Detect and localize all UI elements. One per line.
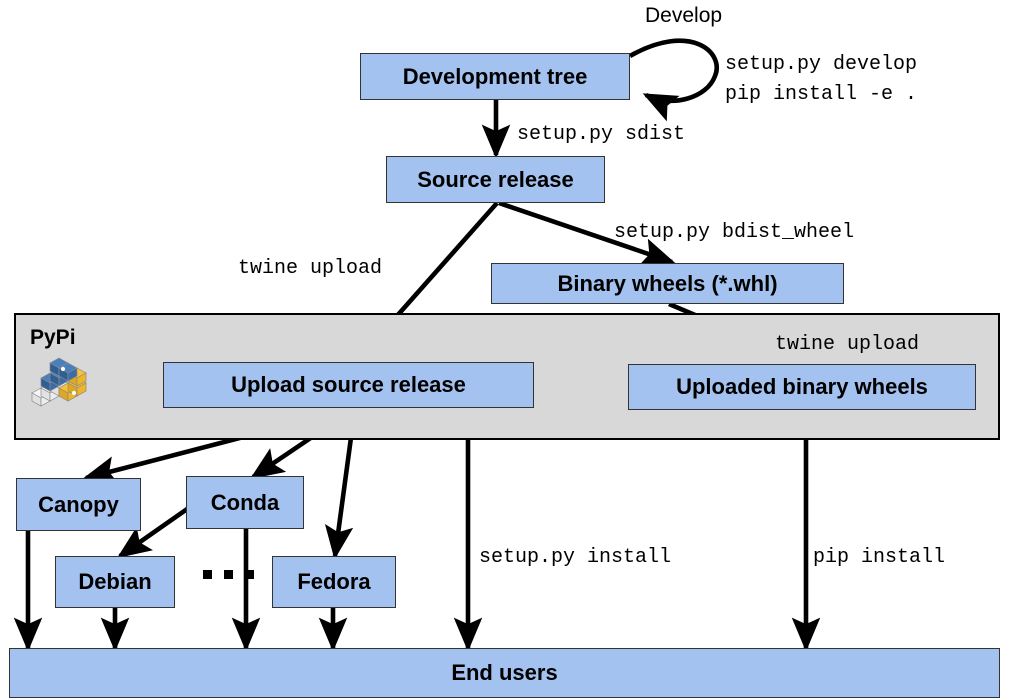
ellipsis-dot bbox=[245, 570, 254, 579]
node-source-release[interactable]: Source release bbox=[386, 156, 605, 203]
ellipsis-dot bbox=[203, 570, 212, 579]
node-development-tree[interactable]: Development tree bbox=[360, 53, 630, 100]
label-setup-py-install: setup.py install bbox=[479, 545, 671, 571]
ellipsis-more-distros bbox=[203, 570, 254, 579]
label-develop: Develop bbox=[645, 3, 722, 30]
label-twine-upload-binary: twine upload bbox=[775, 332, 919, 358]
label-twine-upload-source: twine upload bbox=[238, 256, 382, 282]
node-binary-wheels[interactable]: Binary wheels (*.whl) bbox=[491, 263, 844, 304]
label-setup-py-develop: setup.py develop bbox=[725, 52, 917, 78]
ellipsis-dot bbox=[224, 570, 233, 579]
pypi-python-voxel-logo bbox=[28, 357, 90, 411]
diagram-canvas: PyPi bbox=[0, 0, 1009, 698]
node-upload-source-release[interactable]: Upload source release bbox=[163, 362, 534, 408]
label-pip-install: pip install bbox=[813, 545, 945, 571]
node-end-users[interactable]: End users bbox=[9, 648, 1000, 698]
label-pip-install-editable: pip install -e . bbox=[725, 82, 917, 108]
node-conda[interactable]: Conda bbox=[186, 476, 304, 529]
edge-develop-selfloop bbox=[630, 41, 717, 101]
node-canopy[interactable]: Canopy bbox=[16, 478, 141, 531]
node-debian[interactable]: Debian bbox=[55, 556, 175, 608]
pypi-panel-label: PyPi bbox=[30, 326, 76, 350]
node-uploaded-binary-wheels[interactable]: Uploaded binary wheels bbox=[628, 364, 976, 410]
label-setup-py-bdist-wheel: setup.py bdist_wheel bbox=[614, 220, 854, 246]
label-setup-py-sdist: setup.py sdist bbox=[517, 122, 685, 148]
node-fedora[interactable]: Fedora bbox=[272, 556, 396, 608]
